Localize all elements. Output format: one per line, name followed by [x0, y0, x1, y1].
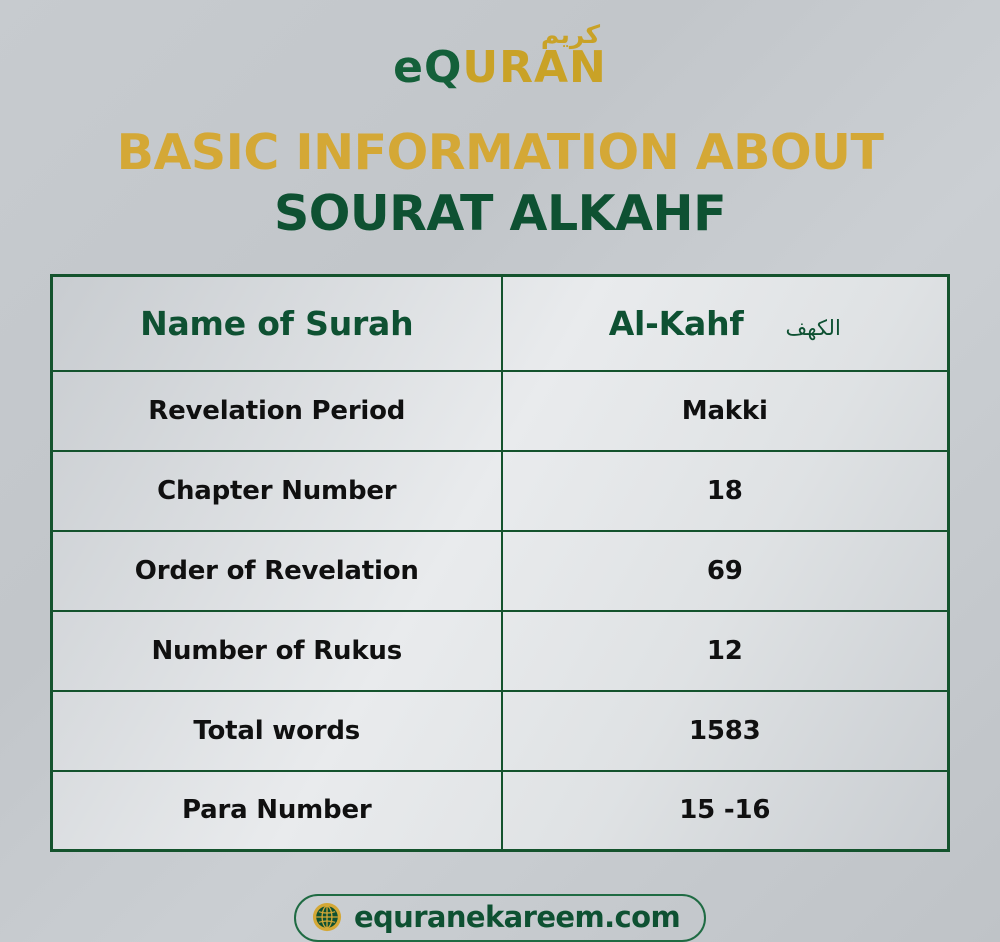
brand-logo: كريم eQURAN [370, 22, 630, 79]
globe-icon [312, 902, 342, 932]
row-value-number-of-rukus: 12 [502, 611, 949, 691]
website-url-text[interactable]: equranekareem.com [354, 903, 680, 932]
website-badge[interactable]: equranekareem.com [294, 894, 706, 942]
row-value-total-words: 1583 [502, 691, 949, 771]
row-label-order-of-revelation: Order of Revelation [52, 531, 502, 611]
page-title: BASIC INFORMATION ABOUT SOURAT ALKAHF [30, 127, 970, 241]
surah-info-table-body: Name of Surah Al-Kahf الكهف Revelation P… [52, 276, 949, 851]
table-row: Para Number 15 -16 [52, 771, 949, 851]
row-label-name-of-surah: Name of Surah [52, 276, 502, 371]
value-group: Al-Kahf الكهف [609, 304, 841, 343]
value-text: Al-Kahf [609, 304, 744, 343]
table-row: Chapter Number 18 [52, 451, 949, 531]
table-row: Name of Surah Al-Kahf الكهف [52, 276, 949, 371]
row-label-revelation-period: Revelation Period [52, 371, 502, 451]
poster-root: كريم eQURAN BASIC INFORMATION ABOUT SOUR… [0, 0, 1000, 942]
table-row: Total words 1583 [52, 691, 949, 771]
row-label-total-words: Total words [52, 691, 502, 771]
row-value-chapter-number: 18 [502, 451, 949, 531]
brand-letters-uran: URAN [462, 42, 607, 93]
table-row: Revelation Period Makki [52, 371, 949, 451]
row-value-para-number: 15 -16 [502, 771, 949, 851]
brand-wordmark: eQURAN [370, 46, 630, 90]
table-row: Number of Rukus 12 [52, 611, 949, 691]
page-title-line-1: BASIC INFORMATION ABOUT [30, 127, 970, 180]
brand-letter-q: Q [424, 42, 462, 93]
row-value-order-of-revelation: 69 [502, 531, 949, 611]
row-label-chapter-number: Chapter Number [52, 451, 502, 531]
surah-info-table: Name of Surah Al-Kahf الكهف Revelation P… [50, 274, 950, 852]
page-title-line-2: SOURAT ALKAHF [30, 188, 970, 241]
row-value-revelation-period: Makki [502, 371, 949, 451]
row-label-para-number: Para Number [52, 771, 502, 851]
value-arabic-text: الكهف [786, 316, 841, 340]
row-value-name-of-surah: Al-Kahf الكهف [502, 276, 949, 371]
table-row: Order of Revelation 69 [52, 531, 949, 611]
row-label-number-of-rukus: Number of Rukus [52, 611, 502, 691]
brand-letter-e: e [393, 42, 424, 93]
